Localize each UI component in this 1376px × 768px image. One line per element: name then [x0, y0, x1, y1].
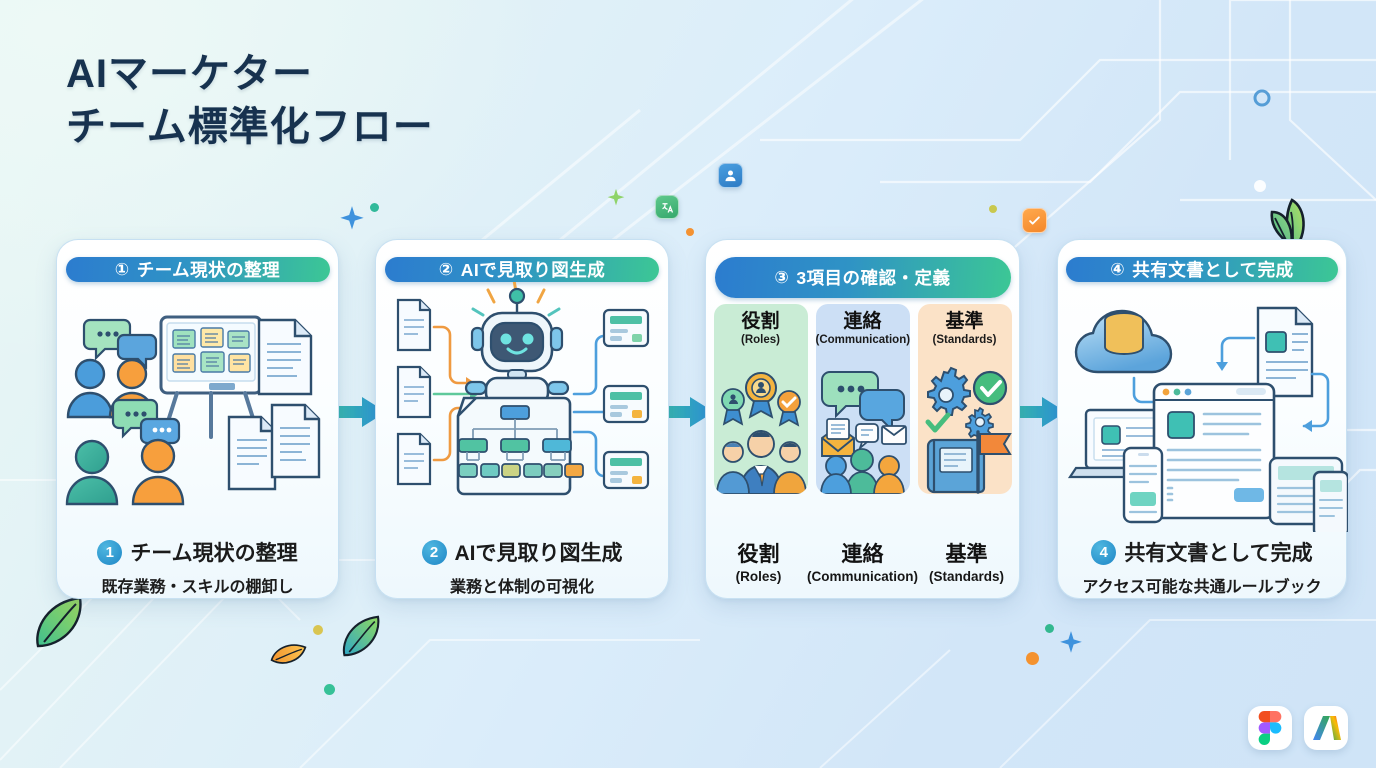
- step-3-header: ③ 3項目の確認・定義: [715, 257, 1011, 298]
- step-4-header: ④ 共有文書として完成: [1066, 257, 1338, 282]
- page-title-line-1: AIマーケター: [66, 48, 434, 101]
- check-badge-icon: [1022, 208, 1047, 233]
- step-3-foot-communication: 連絡 (Communication): [807, 538, 918, 584]
- step-3-header-number: ③: [774, 268, 789, 288]
- step-1-illustration: [57, 282, 338, 537]
- step-4-footer: 4 共有文書として完成 アクセス可能な共通ルールブック: [1058, 537, 1346, 613]
- panel-communication-jp: 連絡: [816, 312, 910, 333]
- step-4-number-badge: 4: [1091, 540, 1116, 565]
- step-3-foot-communication-en: (Communication): [807, 569, 918, 584]
- step-1-header-number: ①: [115, 260, 130, 280]
- step-2-header-label: AIで見取り図生成: [461, 257, 606, 282]
- step-2-number-badge: 2: [422, 540, 447, 565]
- step-card-4[interactable]: ④ 共有文書として完成: [1057, 239, 1347, 599]
- step-2-title: 2 AIで見取り図生成: [376, 537, 668, 567]
- step-2-footer: 2 AIで見取り図生成 業務と体制の可視化: [376, 537, 668, 613]
- step-4-header-number: ④: [1110, 260, 1125, 280]
- decor-dot: [1026, 652, 1039, 665]
- step-4-header-label: 共有文書として完成: [1132, 257, 1293, 282]
- step-1-number-badge: 1: [97, 540, 122, 565]
- step-4-title-text: 共有文書として完成: [1124, 537, 1312, 567]
- step-3-foot-standards-en: (Standards): [922, 569, 1011, 584]
- decor-dot: [686, 228, 694, 236]
- step-card-3[interactable]: ③ 3項目の確認・定義 役割 (Roles): [705, 239, 1020, 599]
- step-1-subtitle: 既存業務・スキルの棚卸し: [57, 573, 338, 597]
- step-1-header-label: チーム現状の整理: [137, 257, 280, 282]
- step-card-2[interactable]: ② AIで見取り図生成: [375, 239, 669, 599]
- step-1-footer: 1 チーム現状の整理 既存業務・スキルの棚卸し: [57, 537, 338, 613]
- step-2-title-text: AIで見取り図生成: [455, 537, 623, 567]
- decor-dot: [989, 205, 997, 213]
- figma-logo[interactable]: [1248, 706, 1292, 750]
- panel-communication[interactable]: 連絡 (Communication): [816, 304, 910, 494]
- step-2-header: ② AIで見取り図生成: [385, 257, 659, 282]
- step-3-foot-roles: 役割 (Roles): [714, 538, 803, 584]
- brand-badges: [1248, 706, 1348, 750]
- panel-communication-en: (Communication): [816, 334, 910, 346]
- step-1-title: 1 チーム現状の整理: [57, 537, 338, 567]
- sparkle-icon: [1058, 630, 1084, 656]
- step-1-title-text: チーム現状の整理: [130, 537, 297, 567]
- step-3-foot-roles-en: (Roles): [714, 569, 803, 584]
- ads-logo[interactable]: [1304, 706, 1348, 750]
- panel-standards-en: (Standards): [918, 334, 1012, 346]
- decor-dot: [324, 684, 335, 695]
- step-4-illustration: [1058, 282, 1346, 537]
- step-1-header: ① チーム現状の整理: [66, 257, 330, 282]
- panel-standards[interactable]: 基準 (Standards): [918, 304, 1012, 494]
- sparkle-icon: [338, 205, 366, 233]
- step-2-illustration: [376, 282, 668, 537]
- sparkle-icon: [606, 188, 626, 208]
- step-3-illustration: 役割 (Roles): [706, 298, 1019, 538]
- panel-roles[interactable]: 役割 (Roles): [714, 304, 808, 494]
- panel-standards-jp: 基準: [918, 312, 1012, 333]
- step-4-title: 4 共有文書として完成: [1058, 537, 1346, 567]
- panel-roles-jp: 役割: [714, 312, 808, 333]
- decor-dot: [313, 625, 323, 635]
- leaf-icon: [266, 631, 312, 677]
- step-3-header-label: 3項目の確認・定義: [796, 265, 950, 290]
- decor-dot: [1045, 624, 1054, 633]
- translate-badge-icon: [655, 195, 679, 219]
- infographic-canvas: AIマーケター チーム標準化フロー: [0, 0, 1376, 768]
- step-3-foot-standards: 基準 (Standards): [922, 538, 1011, 584]
- step-3-foot-communication-jp: 連絡: [807, 538, 918, 568]
- page-title: AIマーケター チーム標準化フロー: [66, 48, 434, 154]
- page-title-line-2: チーム標準化フロー: [66, 101, 434, 154]
- decor-dot: [370, 203, 379, 212]
- panel-roles-en: (Roles): [714, 334, 808, 346]
- step-3-footer: 役割 (Roles) 連絡 (Communication) 基準 (Standa…: [706, 538, 1019, 598]
- person-badge-icon: [718, 163, 743, 188]
- step-3-foot-roles-jp: 役割: [714, 538, 803, 568]
- step-4-subtitle: アクセス可能な共通ルールブック: [1058, 573, 1346, 597]
- leaf-icon: [338, 612, 386, 660]
- step-card-1[interactable]: ① チーム現状の整理: [56, 239, 339, 599]
- step-2-subtitle: 業務と体制の可視化: [376, 573, 668, 597]
- step-2-header-number: ②: [439, 260, 454, 280]
- step-3-foot-standards-jp: 基準: [922, 538, 1011, 568]
